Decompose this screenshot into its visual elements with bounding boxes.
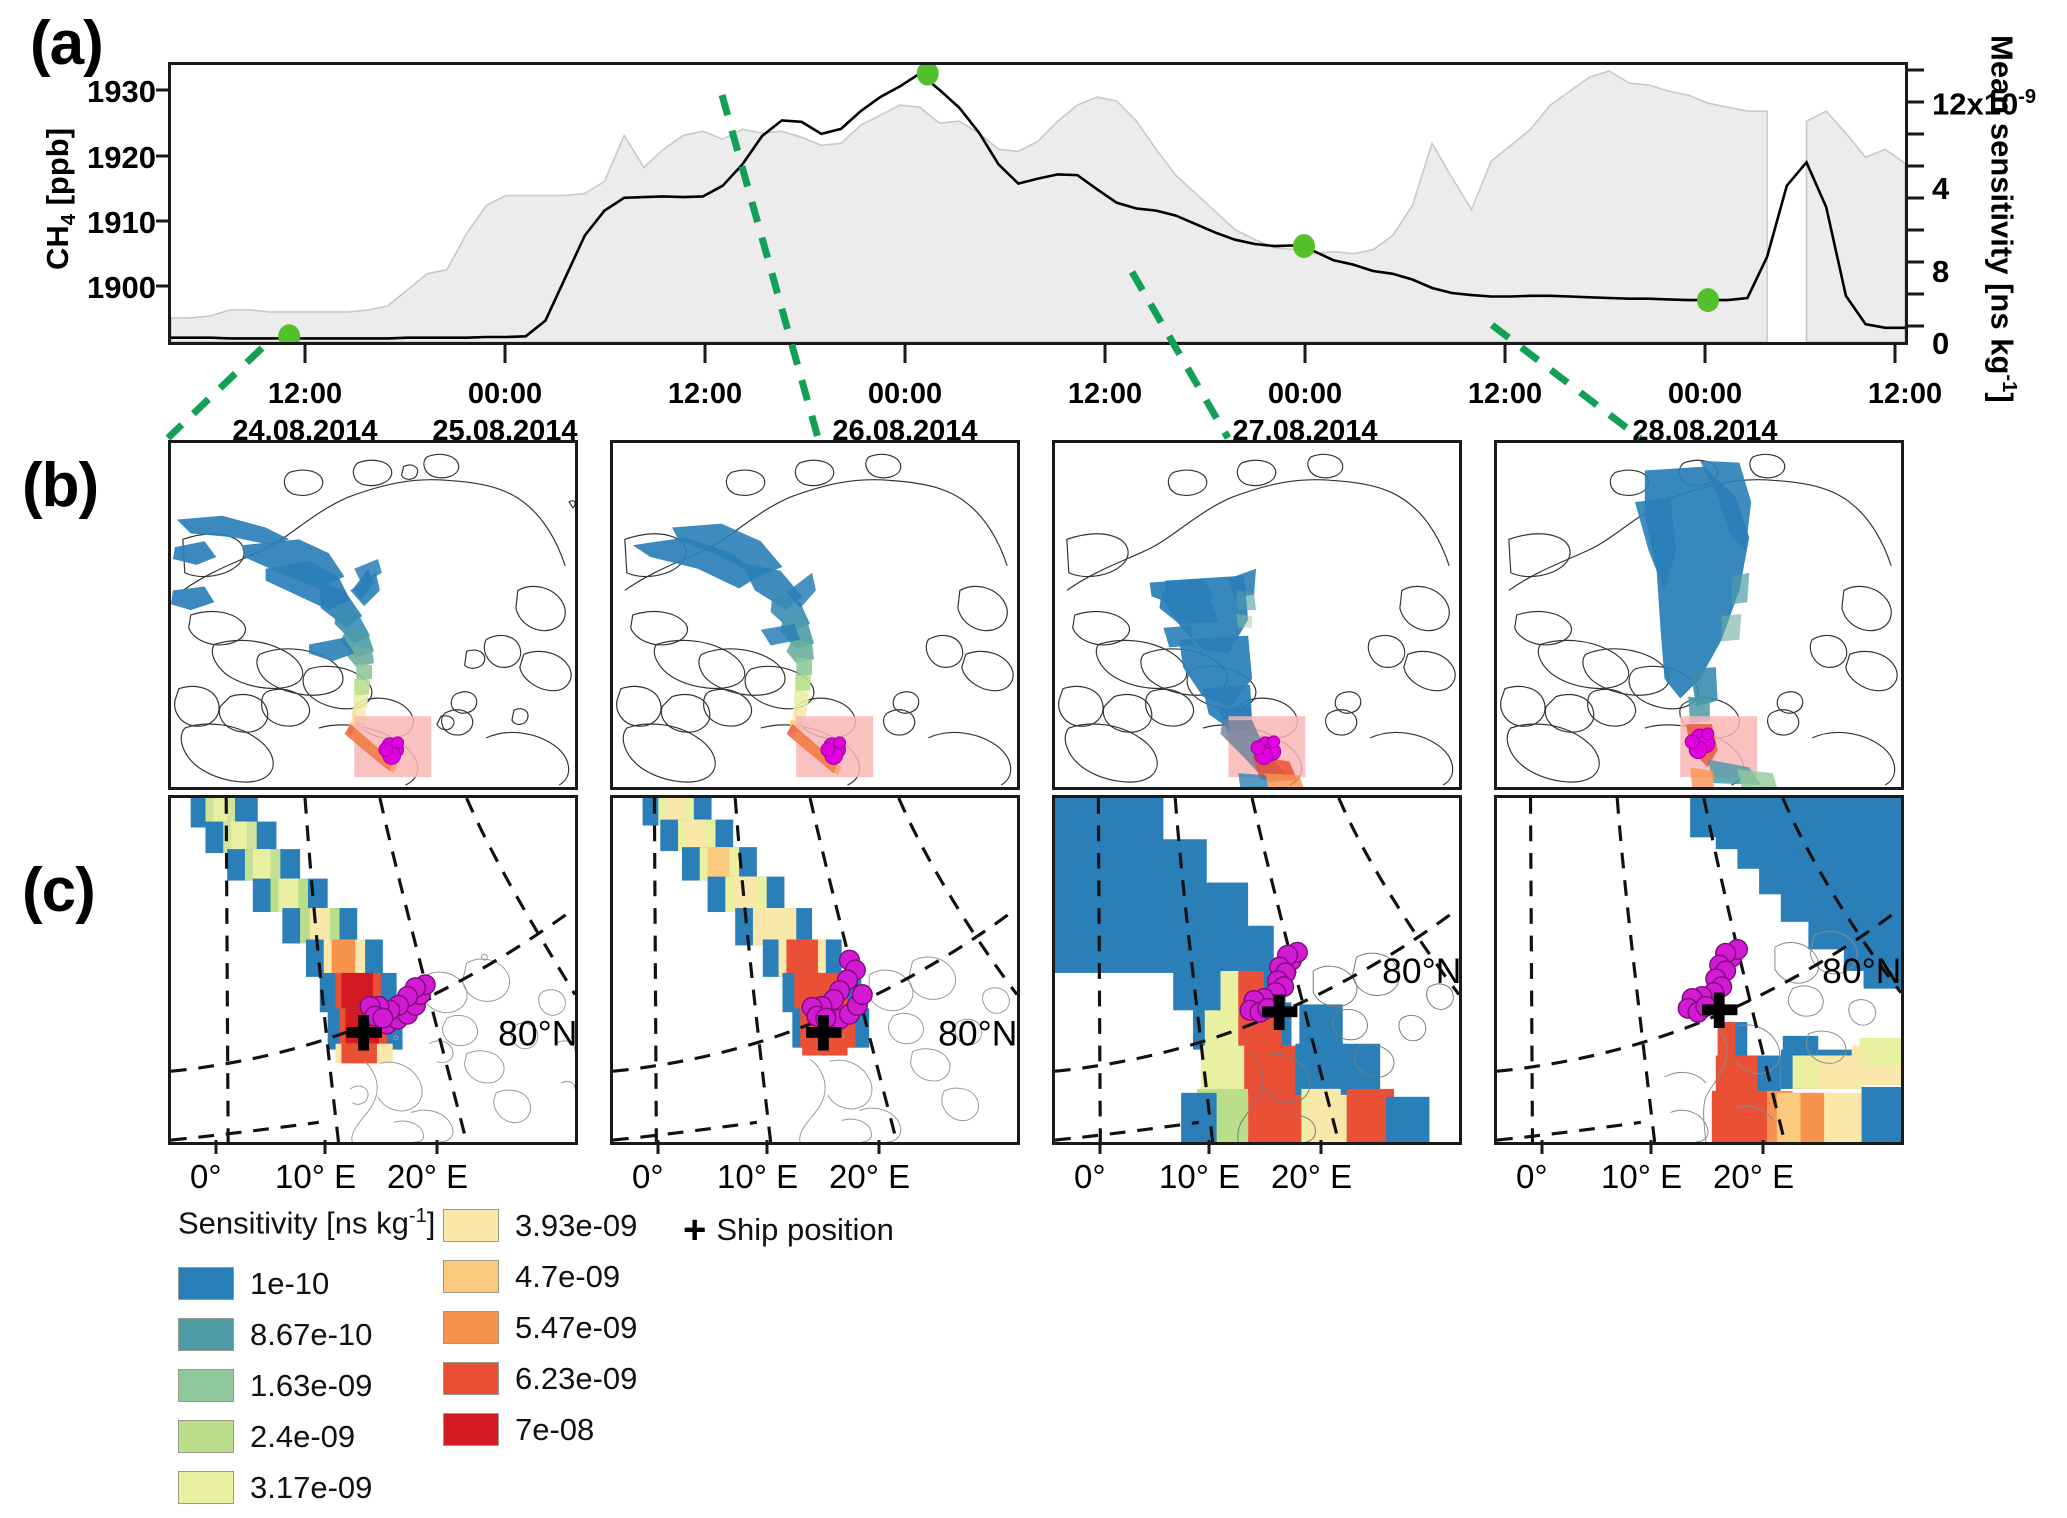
lat-label-80N-4: 80°N xyxy=(1822,951,1901,991)
x-tick-7-time: 12:00 xyxy=(1468,378,1542,410)
lon-label-1-0: 0° xyxy=(190,1158,222,1196)
y2-tick-0: 0 xyxy=(1932,326,1949,362)
x-tick-4-time: 00:00 xyxy=(868,378,942,410)
legend-item[interactable]: 3.17e-09 xyxy=(178,1467,372,1508)
lat-label-80N-2: 80°N xyxy=(938,1014,1017,1054)
snapshot-marker-4[interactable] xyxy=(1697,288,1719,312)
ch4-plot-svg xyxy=(171,65,1905,342)
x-tick-5: 12:00 xyxy=(995,378,1215,411)
ship-position-icon: + xyxy=(683,1210,706,1250)
x-tick-3: 12:00 xyxy=(595,378,815,411)
y-tick-1930: 1930 xyxy=(60,74,156,110)
x-tick-6: 00:00 27.08.2014 xyxy=(1195,378,1415,448)
legend-swatch-1e-10 xyxy=(178,1267,234,1300)
x-tick-1-time: 12:00 xyxy=(268,378,342,410)
legend-item[interactable]: 5.47e-09 xyxy=(443,1307,637,1348)
lat-label-80N-3: 80°N xyxy=(1382,951,1459,991)
legend-item[interactable]: 6.23e-09 xyxy=(443,1358,637,1399)
ship-position-legend: + Ship position xyxy=(683,1210,894,1250)
panel-a-letter: (a) xyxy=(30,8,103,79)
mean-sensitivity-area xyxy=(1806,111,1905,342)
sensitivity-legend: Sensitivity [ns kg-1] 1e-10 8.67e-10 1.6… xyxy=(178,1205,958,1485)
legend-item[interactable]: 4.7e-09 xyxy=(443,1256,637,1297)
y-tick-1920: 1920 xyxy=(60,140,156,176)
arctic-map-4[interactable] xyxy=(1494,440,1904,790)
legend-swatch-623e-09 xyxy=(443,1362,499,1395)
legend-item[interactable]: 3.93e-09 xyxy=(443,1205,637,1246)
x-tick-4: 00:00 26.08.2014 xyxy=(795,378,1015,448)
legend-swatch-867e-10 xyxy=(178,1318,234,1351)
lon-label-2-20E: 20° E xyxy=(829,1158,910,1196)
legend-swatch-163e-09 xyxy=(178,1369,234,1402)
snapshot-marker-2[interactable] xyxy=(917,65,939,86)
y-tick-1910: 1910 xyxy=(60,205,156,241)
x-tick-3-time: 12:00 xyxy=(668,378,742,410)
mean-sensitivity-area xyxy=(171,71,1767,342)
panel-c-letter: (c) xyxy=(22,855,95,926)
map-row-b xyxy=(168,440,1904,790)
arctic-map-2[interactable] xyxy=(610,440,1020,790)
y-tick-1900: 1900 xyxy=(60,270,156,306)
legend-label-9: 6.23e-09 xyxy=(515,1361,637,1397)
svalbard-map-2[interactable]: 80°N xyxy=(610,795,1020,1145)
lon-label-3-10E: 10° E xyxy=(1159,1158,1240,1196)
legend-swatch-317e-09 xyxy=(178,1471,234,1504)
legend-label-3: 1.63e-09 xyxy=(250,1368,372,1404)
x-tick-9-time: 12:00 xyxy=(1868,378,1942,410)
legend-label-6: 3.93e-09 xyxy=(515,1208,637,1244)
x-tick-2-time: 00:00 xyxy=(468,378,542,410)
legend-label-4: 2.4e-09 xyxy=(250,1419,355,1455)
svalbard-map-1[interactable]: 80°N xyxy=(168,795,578,1145)
lon-label-4-10E: 10° E xyxy=(1601,1158,1682,1196)
svalbard-map-4[interactable]: 80°N xyxy=(1494,795,1904,1145)
x-tick-7: 12:00 xyxy=(1395,378,1615,411)
legend-swatch-47e-09 xyxy=(443,1260,499,1293)
legend-item[interactable]: 7e-08 xyxy=(443,1409,637,1450)
snapshot-marker-3[interactable] xyxy=(1293,234,1315,258)
ship-position-legend-label: Ship position xyxy=(716,1212,894,1248)
legend-swatch-24e-09 xyxy=(178,1420,234,1453)
legend-item[interactable]: 2.4e-09 xyxy=(178,1416,372,1457)
legend-label-2: 8.67e-10 xyxy=(250,1317,372,1353)
legend-label-7: 4.7e-09 xyxy=(515,1259,620,1295)
x-tick-9: 12:00 xyxy=(1795,378,2015,411)
legend-swatch-547e-09 xyxy=(443,1311,499,1344)
lon-label-2-10E: 10° E xyxy=(717,1158,798,1196)
panel-b-letter: (b) xyxy=(22,450,98,521)
y2-tick-4: 8 xyxy=(1932,254,1949,290)
legend-item[interactable]: 8.67e-10 xyxy=(178,1314,372,1355)
legend-label-1: 1e-10 xyxy=(250,1266,329,1302)
lon-label-1-10E: 10° E xyxy=(275,1158,356,1196)
x-tick-5-time: 12:00 xyxy=(1068,378,1142,410)
x-tick-2: 00:00 25.08.2014 xyxy=(395,378,615,448)
legend-swatch-7e-08 xyxy=(443,1413,499,1446)
x-tick-8-time: 00:00 xyxy=(1668,378,1742,410)
arctic-map-1[interactable] xyxy=(168,440,578,790)
arctic-map-3[interactable] xyxy=(1052,440,1462,790)
lon-label-4-0: 0° xyxy=(1516,1158,1548,1196)
lon-label-3-20E: 20° E xyxy=(1271,1158,1352,1196)
legend-column-warm: 3.93e-09 4.7e-09 5.47e-09 6.23e-09 7e-08 xyxy=(443,1205,637,1460)
legend-label-5: 3.17e-09 xyxy=(250,1470,372,1506)
legend-item[interactable]: 1e-10 xyxy=(178,1263,372,1304)
x-tick-8: 00:00 28.08.2014 xyxy=(1595,378,1815,448)
lat-label-80N-1: 80°N xyxy=(498,1014,575,1054)
legend-swatch-393e-09 xyxy=(443,1209,499,1242)
lon-label-2-0: 0° xyxy=(632,1158,664,1196)
x-tick-6-time: 00:00 xyxy=(1268,378,1342,410)
lon-label-3-0: 0° xyxy=(1074,1158,1106,1196)
y2-tick-8: 4 xyxy=(1932,171,1949,207)
legend-item[interactable]: 1.63e-09 xyxy=(178,1365,372,1406)
ch4-timeseries-plot xyxy=(168,62,1908,345)
legend-label-8: 5.47e-09 xyxy=(515,1310,637,1346)
lon-label-1-20E: 20° E xyxy=(387,1158,468,1196)
lon-label-4-20E: 20° E xyxy=(1713,1158,1794,1196)
figure-root: (a) (b) (c) CH4 [ppb] Mean sensitivity [… xyxy=(0,0,2067,1497)
legend-title: Sensitivity [ns kg-1] xyxy=(178,1205,435,1241)
y2-tick-12: 12x10-9 xyxy=(1932,86,2036,122)
map-row-c: 80°N xyxy=(168,795,1904,1145)
x-tick-1: 12:00 24.08.2014 xyxy=(195,378,415,448)
legend-column-cool: 1e-10 8.67e-10 1.63e-09 2.4e-09 3.17e-09 xyxy=(178,1263,372,1518)
svalbard-map-3[interactable]: 80°N xyxy=(1052,795,1462,1145)
legend-label-10: 7e-08 xyxy=(515,1412,594,1448)
